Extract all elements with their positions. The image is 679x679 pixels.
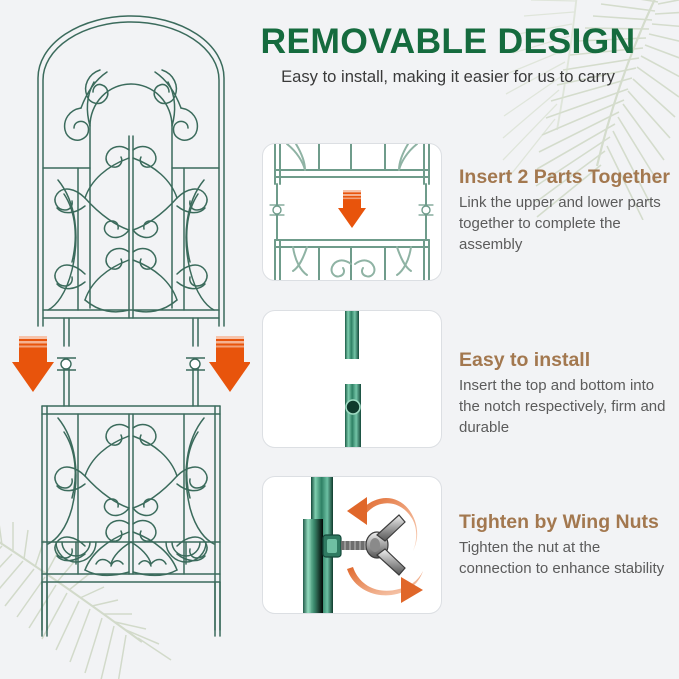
page-title: REMOVABLE DESIGN bbox=[222, 22, 674, 60]
tube-notch-illustration bbox=[262, 310, 442, 448]
step-body: Link the upper and lower parts together … bbox=[459, 193, 674, 255]
rotate-arrow-down-icon bbox=[347, 567, 423, 603]
down-arrow-icon bbox=[338, 190, 366, 228]
tube-hole-icon bbox=[346, 400, 360, 414]
wing-nut-icon bbox=[366, 515, 405, 575]
infographic-page: REMOVABLE DESIGN Easy to install, making… bbox=[0, 0, 679, 679]
step-body: Insert the top and bottom into the notch… bbox=[459, 376, 674, 438]
down-arrow-icon-left bbox=[12, 336, 54, 392]
two-parts-joining-illustration bbox=[262, 143, 442, 281]
connector-pin-right bbox=[186, 358, 205, 370]
wing-nut-illustration bbox=[262, 476, 442, 614]
upper-tube bbox=[345, 311, 359, 359]
header: REMOVABLE DESIGN Easy to install, making… bbox=[222, 22, 674, 87]
page-subtitle: Easy to install, making it easier for us… bbox=[222, 67, 674, 87]
garden-trellis-illustration bbox=[12, 8, 250, 640]
step-body: Tighten the nut at the connection to enh… bbox=[459, 538, 674, 579]
trellis-upper-panel bbox=[38, 16, 224, 346]
step-heading: Easy to install bbox=[459, 348, 674, 372]
trellis-lower-panel bbox=[42, 368, 220, 636]
connector-pin-left bbox=[57, 358, 76, 370]
step-insert-2-parts: Insert 2 Parts Together Link the upper a… bbox=[262, 143, 674, 281]
inner-tube bbox=[303, 519, 323, 613]
down-arrow-icon-right bbox=[209, 336, 250, 392]
step-text: Tighten by Wing Nuts Tighten the nut at … bbox=[459, 476, 674, 580]
step-text: Insert 2 Parts Together Link the upper a… bbox=[459, 143, 674, 255]
step-tighten-wing-nuts: Tighten by Wing Nuts Tighten the nut at … bbox=[262, 476, 674, 614]
lower-tube bbox=[345, 384, 361, 447]
step-text: Easy to install Insert the top and botto… bbox=[459, 310, 674, 438]
step-heading: Insert 2 Parts Together bbox=[459, 165, 674, 189]
step-easy-to-install: Easy to install Insert the top and botto… bbox=[262, 310, 674, 448]
step-heading: Tighten by Wing Nuts bbox=[459, 510, 674, 534]
